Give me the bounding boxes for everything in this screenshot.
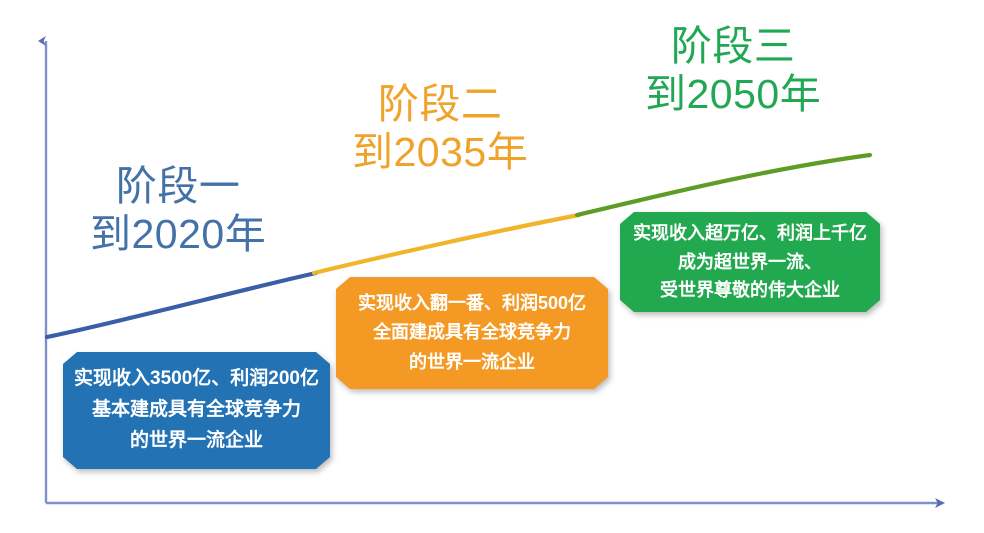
stage-1-heading-line-1: 阶段一 (90, 162, 266, 210)
stage-2-callout-line-1: 实现收入翻一番、利润500亿 (358, 289, 586, 318)
stage-3-heading-line-1: 阶段三 (645, 22, 821, 70)
stage-3-callout: 实现收入超万亿、利润上千亿 成为超世界一流、 受世界尊敬的伟大企业 (620, 212, 880, 312)
stage-1-callout-line-3: 的世界一流企业 (130, 426, 263, 457)
curve-segment-stage-2 (314, 215, 579, 273)
stage-3-heading-line-2: 到2050年 (645, 70, 821, 118)
stage-2-heading: 阶段二 到2035年 (352, 80, 528, 177)
stage-1-heading-line-2: 到2020年 (90, 210, 266, 258)
stage-2-callout-line-2: 全面建成具有全球竞争力 (373, 318, 571, 347)
stage-1-callout-line-1: 实现收入3500亿、利润200亿 (74, 364, 319, 395)
stage-2-callout: 实现收入翻一番、利润500亿 全面建成具有全球竞争力 的世界一流企业 (336, 277, 608, 389)
stage-3-heading: 阶段三 到2050年 (645, 22, 821, 119)
stage-2-heading-line-2: 到2035年 (352, 128, 528, 176)
growth-roadmap-chart: 阶段一 到2020年 阶段二 到2035年 阶段三 到2050年 实现收入350… (0, 0, 984, 533)
stage-1-heading: 阶段一 到2020年 (90, 162, 266, 259)
curve-segment-stage-1 (47, 273, 316, 337)
stage-1-callout-line-2: 基本建成具有全球竞争力 (92, 395, 301, 426)
stage-3-callout-line-3: 受世界尊敬的伟大企业 (660, 276, 840, 304)
stage-2-heading-line-1: 阶段二 (352, 80, 528, 128)
curve-segment-stage-3 (577, 155, 870, 215)
stage-2-callout-line-3: 的世界一流企业 (409, 348, 535, 377)
stage-3-callout-line-2: 成为超世界一流、 (678, 248, 822, 276)
stage-3-callout-line-1: 实现收入超万亿、利润上千亿 (633, 219, 867, 247)
stage-1-callout: 实现收入3500亿、利润200亿 基本建成具有全球竞争力 的世界一流企业 (63, 352, 330, 469)
